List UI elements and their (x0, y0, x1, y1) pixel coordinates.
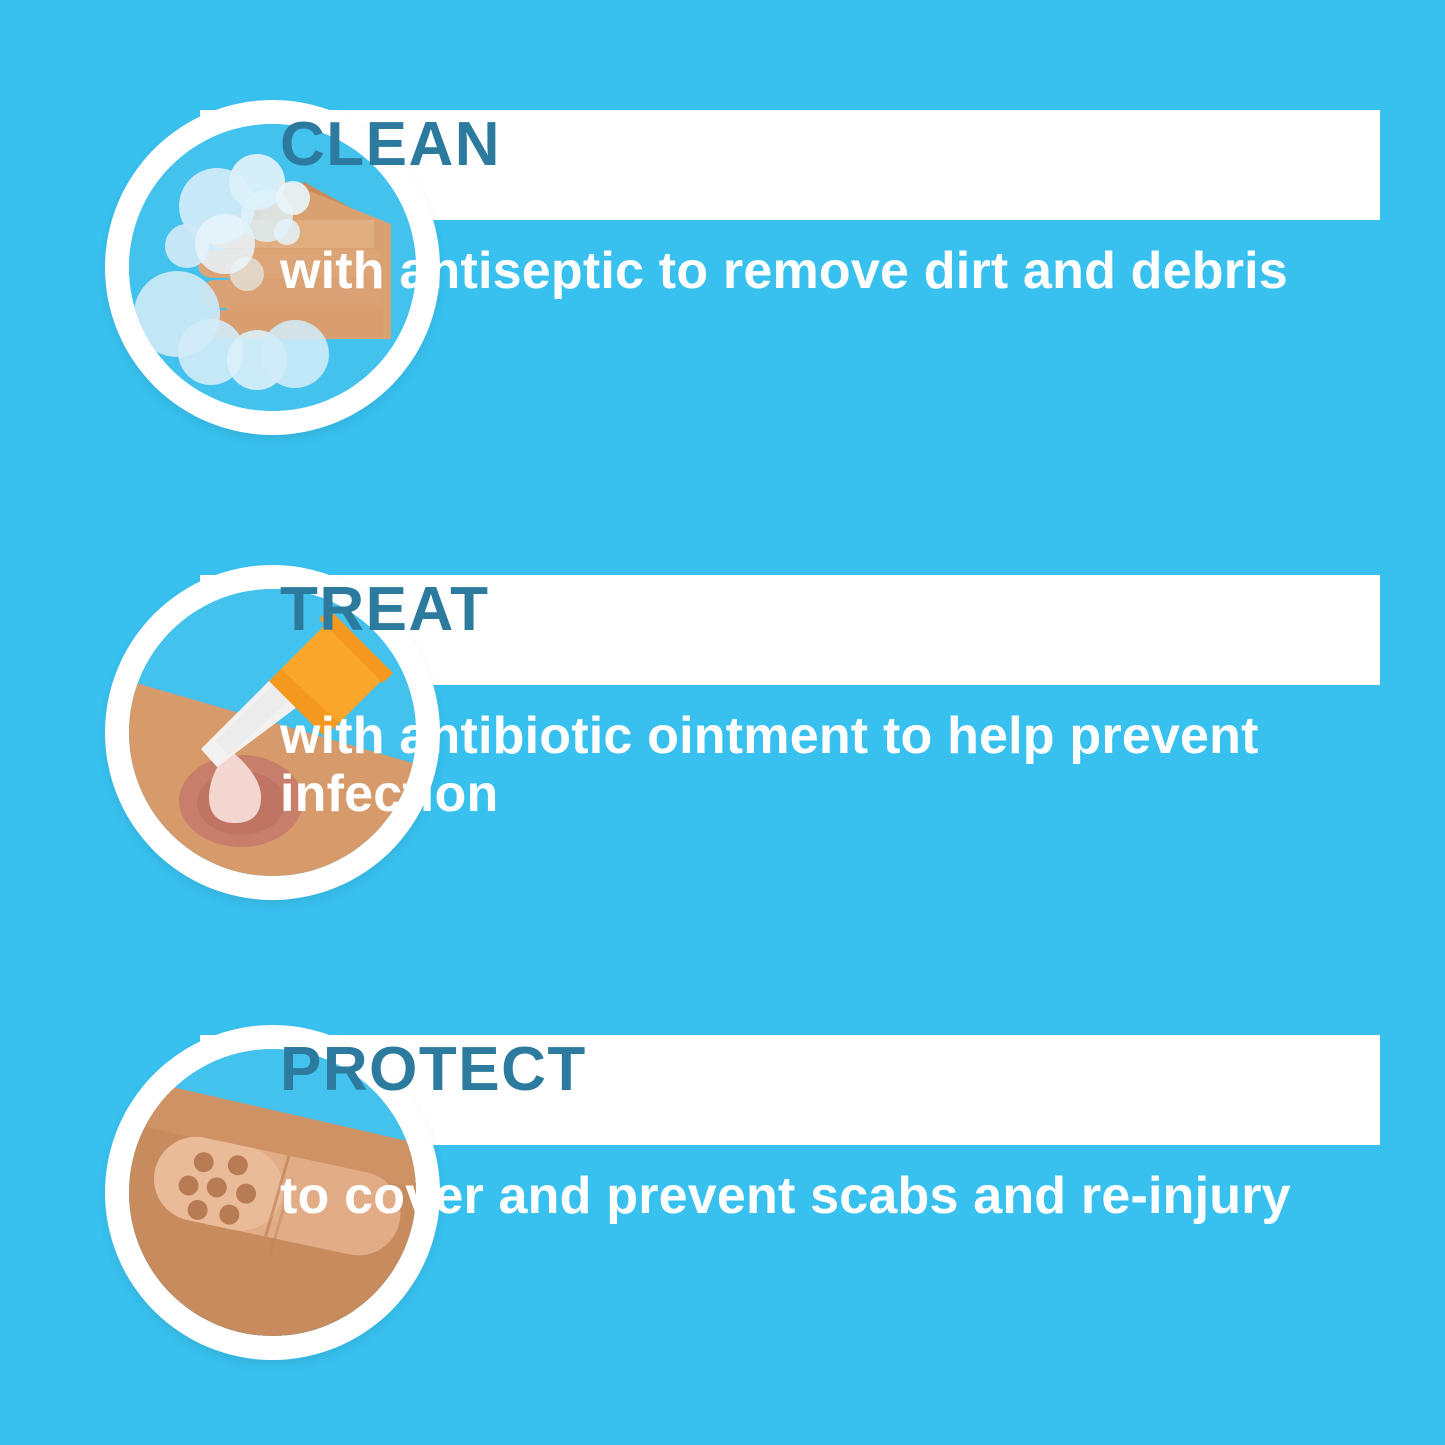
step-title: CLEAN (280, 114, 501, 176)
wound-care-infographic: CLEAN with antiseptic to remove dirt and… (0, 0, 1445, 1445)
step-protect: PROTECT to cover and prevent scabs and r… (0, 1015, 1445, 1375)
step-clean: CLEAN with antiseptic to remove dirt and… (0, 90, 1445, 450)
step-title: PROTECT (280, 1039, 587, 1101)
step-title: TREAT (280, 579, 490, 641)
step-description: with antibiotic ointment to help prevent… (280, 707, 1370, 823)
step-treat: TREAT with antibiotic ointment to help p… (0, 555, 1445, 915)
step-description: with antiseptic to remove dirt and debri… (280, 242, 1370, 300)
step-description: to cover and prevent scabs and re-injury (280, 1167, 1370, 1225)
